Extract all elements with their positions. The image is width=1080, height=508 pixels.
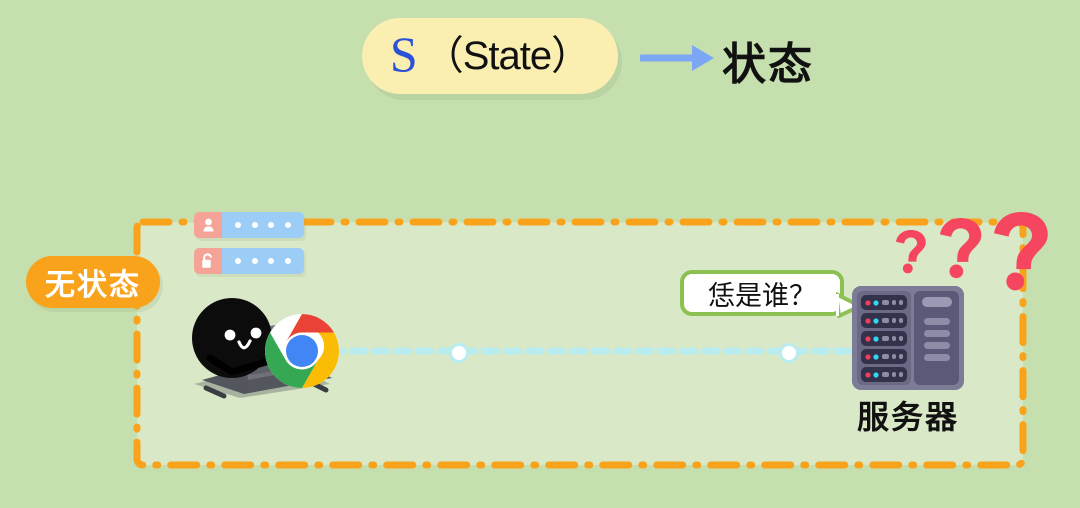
connection-node xyxy=(779,343,799,363)
right-arrow-icon xyxy=(640,40,718,76)
speech-bubble-text: 恁是谁？ xyxy=(708,274,816,313)
state-label: （State） xyxy=(424,36,590,76)
connection-node xyxy=(449,343,469,363)
server-label: 服务器 xyxy=(838,392,978,438)
user-with-laptop-icon xyxy=(180,288,360,398)
password-field[interactable] xyxy=(194,248,304,274)
state-translation: 状态 xyxy=(722,28,814,92)
unlock-icon xyxy=(194,248,222,274)
stateless-badge-label: 无状态 xyxy=(45,260,141,304)
person-icon xyxy=(194,212,222,238)
stateless-badge: 无状态 xyxy=(26,256,160,308)
state-letter: S xyxy=(390,29,418,79)
state-title-pill: S （State） xyxy=(362,18,618,94)
connection-line xyxy=(330,338,870,364)
username-dots xyxy=(222,212,304,238)
username-field[interactable] xyxy=(194,212,304,238)
server-speech-bubble: 恁是谁？ xyxy=(680,270,844,316)
question-marks-icon xyxy=(892,212,1057,302)
illustration-canvas: S （State） 状态 无状态 xyxy=(0,0,1080,508)
password-dots xyxy=(222,248,304,274)
